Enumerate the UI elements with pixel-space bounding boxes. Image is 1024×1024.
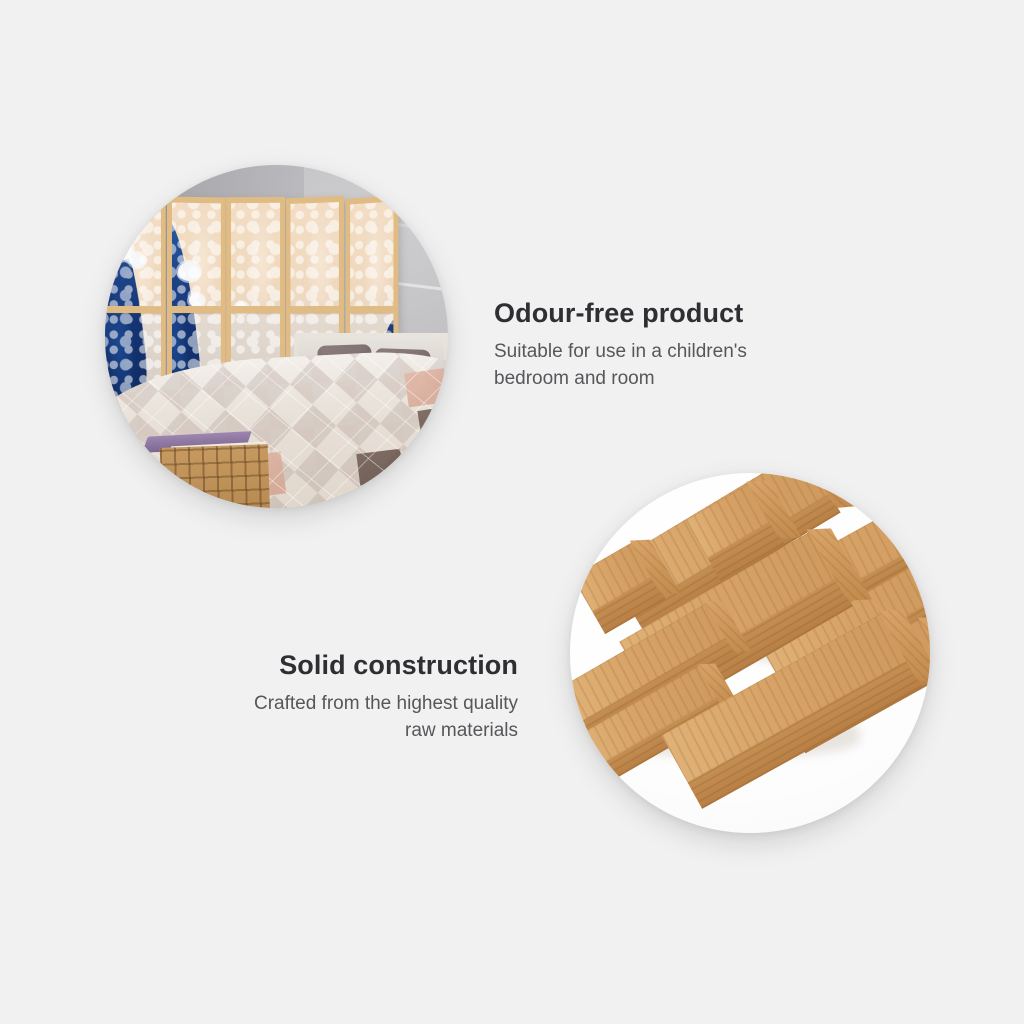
quilt-stitching [105,347,448,508]
timber-scene [570,473,930,833]
bedroom-scene [105,165,448,508]
timber-stack [570,473,930,833]
feature-headline: Solid construction [160,650,518,682]
patchwork-quilt [105,347,448,508]
bedroom-photo-circle [105,165,448,508]
feature-subline: Suitable for use in a children's bedroom… [494,339,834,393]
feature-subline: Crafted from the highest quality raw mat… [160,691,518,745]
feature-text-odour-free: Odour-free product Suitable for use in a… [494,298,834,393]
feature-headline: Odour-free product [494,298,834,330]
timber-photo-circle [570,473,930,833]
wicker-basket [160,444,271,508]
feature-text-solid-construction: Solid construction Crafted from the high… [160,650,518,745]
basket-weave-pattern [160,444,271,508]
infographic-canvas: Odour-free product Suitable for use in a… [0,0,1024,1024]
